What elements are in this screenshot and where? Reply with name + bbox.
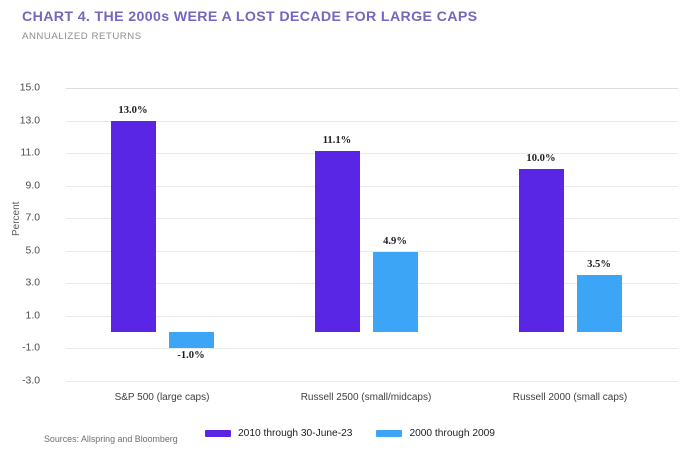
y-axis-tick-label: 13.0 <box>0 115 40 126</box>
x-axis-tick-label: S&P 500 (large caps) <box>47 392 277 403</box>
bar-value-label: 11.1% <box>297 135 377 146</box>
gridline <box>66 121 678 122</box>
gridline <box>66 186 678 187</box>
bar-value-label: 10.0% <box>501 153 581 164</box>
bar-value-label: -1.0% <box>151 350 231 361</box>
legend-label: 2000 through 2009 <box>409 428 495 439</box>
y-axis-tick-label: -3.0 <box>0 376 40 387</box>
legend-label: 2010 through 30-June-23 <box>238 428 352 439</box>
y-axis-tick-label: 11.0 <box>0 148 40 159</box>
bar <box>315 151 360 332</box>
bar <box>577 275 622 332</box>
y-axis-tick-label: -1.0 <box>0 343 40 354</box>
y-axis-tick-label: 9.0 <box>0 180 40 191</box>
gridline <box>66 88 678 89</box>
legend-swatch-icon <box>205 430 231 437</box>
chart-figure: CHART 4. THE 2000s WERE A LOST DECADE FO… <box>0 0 700 468</box>
bar-value-label: 13.0% <box>93 105 173 116</box>
gridline <box>66 381 678 382</box>
gridline <box>66 153 678 154</box>
page-title: CHART 4. THE 2000s WERE A LOST DECADE FO… <box>22 8 477 26</box>
x-axis-tick-label: Russell 2500 (small/midcaps) <box>251 392 481 403</box>
x-axis-tick-label: Russell 2000 (small caps) <box>455 392 685 403</box>
y-axis-tick-label: 15.0 <box>0 83 40 94</box>
legend-swatch-icon <box>376 430 402 437</box>
bar-value-label: 4.9% <box>355 236 435 247</box>
bar <box>373 252 418 332</box>
bar-value-label: 3.5% <box>559 259 639 270</box>
y-axis-tick-label: 5.0 <box>0 245 40 256</box>
source-note: Sources: Allspring and Bloomberg <box>44 434 178 444</box>
legend-item[interactable]: 2010 through 30-June-23 <box>205 428 352 439</box>
bar <box>111 121 156 333</box>
y-axis-tick-label: 7.0 <box>0 213 40 224</box>
y-axis-tick-label: 1.0 <box>0 310 40 321</box>
gridline <box>66 348 678 349</box>
gridline <box>66 218 678 219</box>
y-axis-tick-label: 3.0 <box>0 278 40 289</box>
chart-header: CHART 4. THE 2000s WERE A LOST DECADE FO… <box>22 8 477 44</box>
bar <box>169 332 214 348</box>
plot-area: 15.013.011.09.07.05.03.01.0-1.0-3.0 13.0… <box>66 88 678 381</box>
bar <box>519 169 564 332</box>
legend-item[interactable]: 2000 through 2009 <box>376 428 495 439</box>
chart-subtitle: ANNUALIZED RETURNS <box>22 30 477 44</box>
